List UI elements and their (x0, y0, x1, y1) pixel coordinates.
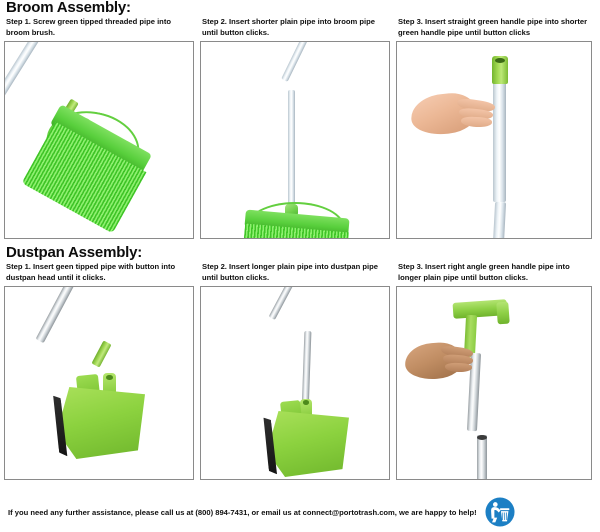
broom-step-1: Step 1. Screw green tipped threaded pipe… (4, 17, 194, 239)
broom-step-1-text: Step 1. Screw green tipped threaded pipe… (6, 17, 194, 38)
dustpan-steps-row: Step 1. Insert geen tipped pipe with but… (4, 262, 596, 480)
dustpan-step-2-text: Step 2. Insert longer plain pipe into du… (202, 262, 390, 283)
footer: If you need any further assistance, plea… (0, 494, 600, 530)
dustpan-step-1-image (4, 286, 194, 480)
broom-step-1-image (4, 41, 194, 239)
dustpan-step-1-text: Step 1. Insert geen tipped pipe with but… (6, 262, 194, 283)
broom-steps-row: Step 1. Screw green tipped threaded pipe… (4, 17, 596, 239)
dustpan-section-title: Dustpan Assembly: (6, 245, 596, 260)
instruction-sheet: Broom Assembly: Step 1. Screw green tipp… (0, 0, 600, 530)
broom-step-2: Step 2. Insert shorter plain pipe into b… (200, 17, 390, 239)
broom-step-3: Step 3. Insert straight green handle pip… (396, 17, 592, 239)
dustpan-step-3-image (396, 286, 592, 480)
dustpan-step-1: Step 1. Insert geen tipped pipe with but… (4, 262, 194, 480)
broom-step-2-text: Step 2. Insert shorter plain pipe into b… (202, 17, 390, 38)
broom-step-3-image (396, 41, 592, 239)
broom-step-3-text: Step 3. Insert straight green handle pip… (398, 17, 592, 38)
broom-section-title: Broom Assembly: (6, 0, 596, 15)
dustpan-step-3-text: Step 3. Insert right angle green handle … (398, 262, 592, 283)
footer-contact-text: If you need any further assistance, plea… (8, 507, 477, 518)
dustpan-step-3: Step 3. Insert right angle green handle … (396, 262, 592, 480)
dustpan-step-2-image (200, 286, 390, 480)
dustpan-step-2: Step 2. Insert longer plain pipe into du… (200, 262, 390, 480)
broom-step-2-image (200, 41, 390, 239)
portotrash-logo-icon (485, 497, 515, 527)
